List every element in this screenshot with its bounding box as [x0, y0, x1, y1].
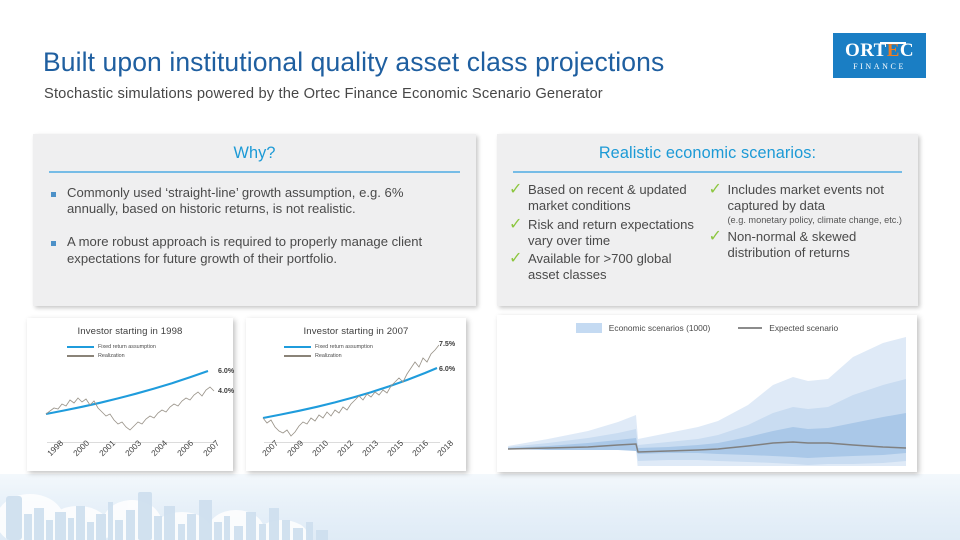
scenario-item-main: Includes market events not captured by d…: [728, 182, 884, 213]
scenarios-panel-body: ✓ Based on recent & updated market condi…: [497, 173, 918, 287]
list-item: ✓ Includes market events not captured by…: [709, 182, 905, 226]
x-tick-label: 2000: [71, 438, 91, 458]
footer-decoration-band: [0, 474, 960, 540]
chart-end-label-realization: 7.5%: [439, 340, 455, 348]
check-icon: ✓: [509, 251, 525, 283]
x-tick-label: 2009: [285, 438, 305, 458]
x-tick-label: 1998: [45, 438, 65, 458]
check-icon: ✓: [509, 217, 525, 249]
x-tick-label: 2006: [175, 438, 195, 458]
list-item: ✓ Available for >700 global asset classe…: [509, 251, 705, 283]
scenario-item-note: (e.g. monetary policy, climate change, e…: [728, 215, 905, 226]
check-icon: ✓: [509, 182, 525, 214]
ortec-finance-logo: ORTEC FINANCE: [833, 33, 926, 78]
scenario-item-text: Risk and return expectations vary over t…: [528, 217, 705, 249]
x-tick-label: 2010: [310, 438, 330, 458]
x-tick-label: 2013: [360, 438, 380, 458]
chart-card-economic-scenarios: Economic scenarios (1000) Expected scena…: [497, 315, 917, 472]
x-tick-label: 2003: [123, 438, 143, 458]
why-bullet-text: A more robust approach is required to pr…: [67, 234, 458, 268]
chart-plot-area: [40, 354, 218, 440]
x-tick-label: 2018: [435, 438, 455, 458]
city-skyline-icon: [0, 480, 430, 540]
check-icon: ✓: [709, 229, 725, 261]
logo-tagline: FINANCE: [853, 63, 906, 71]
page-title: Built upon institutional quality asset c…: [43, 47, 664, 78]
scenarios-panel: Realistic economic scenarios: ✓ Based on…: [497, 134, 918, 306]
list-item: ✓ Non-normal & skewed distribution of re…: [709, 229, 905, 261]
why-panel-body: Commonly used ‘straight-line’ growth ass…: [33, 173, 476, 268]
chart-card-investor-1998: Investor starting in 1998 Fixed return a…: [27, 318, 233, 471]
legend-entry: Fixed return assumption: [67, 344, 156, 350]
square-bullet-icon: [51, 192, 56, 197]
scenario-item-text: Includes market events not captured by d…: [728, 182, 905, 226]
chart-plot-area: [508, 321, 906, 466]
scenarios-panel-heading: Realistic economic scenarios:: [497, 134, 918, 163]
list-item: A more robust approach is required to pr…: [49, 234, 458, 268]
x-tick-label: 2016: [410, 438, 430, 458]
chart-end-label-realization: 4.0%: [218, 387, 234, 395]
x-tick-label: 2007: [260, 438, 280, 458]
list-item: ✓ Risk and return expectations vary over…: [509, 217, 705, 249]
scenarios-column-right: ✓ Includes market events not captured by…: [709, 182, 905, 287]
x-tick-label: 2012: [335, 438, 355, 458]
chart-card-investor-2007: Investor starting in 2007 Fixed return a…: [246, 318, 466, 471]
logo-bar-decoration: [880, 42, 906, 45]
x-tick-label: 2004: [149, 438, 169, 458]
why-bullet-text: Commonly used ‘straight-line’ growth ass…: [67, 185, 458, 219]
chart-plot-area: [257, 334, 445, 440]
chart-title: Investor starting in 1998: [27, 318, 233, 337]
scenario-item-text: Based on recent & updated market conditi…: [528, 182, 705, 214]
list-item: Commonly used ‘straight-line’ growth ass…: [49, 185, 458, 219]
x-tick-label: 2007: [201, 438, 221, 458]
x-tick-label: 2015: [385, 438, 405, 458]
legend-swatch-fixed-return: [67, 346, 94, 348]
scenario-item-text: Available for >700 global asset classes: [528, 251, 705, 283]
scenario-item-text: Non-normal & skewed distribution of retu…: [728, 229, 905, 261]
why-panel: Why? Commonly used ‘straight-line’ growt…: [33, 134, 476, 306]
x-tick-label: 2001: [97, 438, 117, 458]
why-panel-heading: Why?: [33, 134, 476, 163]
chart-end-label-fixed: 6.0%: [439, 365, 455, 373]
check-icon: ✓: [709, 182, 725, 226]
scenarios-column-left: ✓ Based on recent & updated market condi…: [509, 182, 705, 287]
legend-label: Fixed return assumption: [98, 344, 156, 350]
square-bullet-icon: [51, 241, 56, 246]
page-subtitle: Stochastic simulations powered by the Or…: [44, 86, 603, 102]
logo-wordmark: ORTEC: [845, 41, 914, 60]
list-item: ✓ Based on recent & updated market condi…: [509, 182, 705, 214]
chart-end-label-fixed: 6.0%: [218, 367, 234, 375]
